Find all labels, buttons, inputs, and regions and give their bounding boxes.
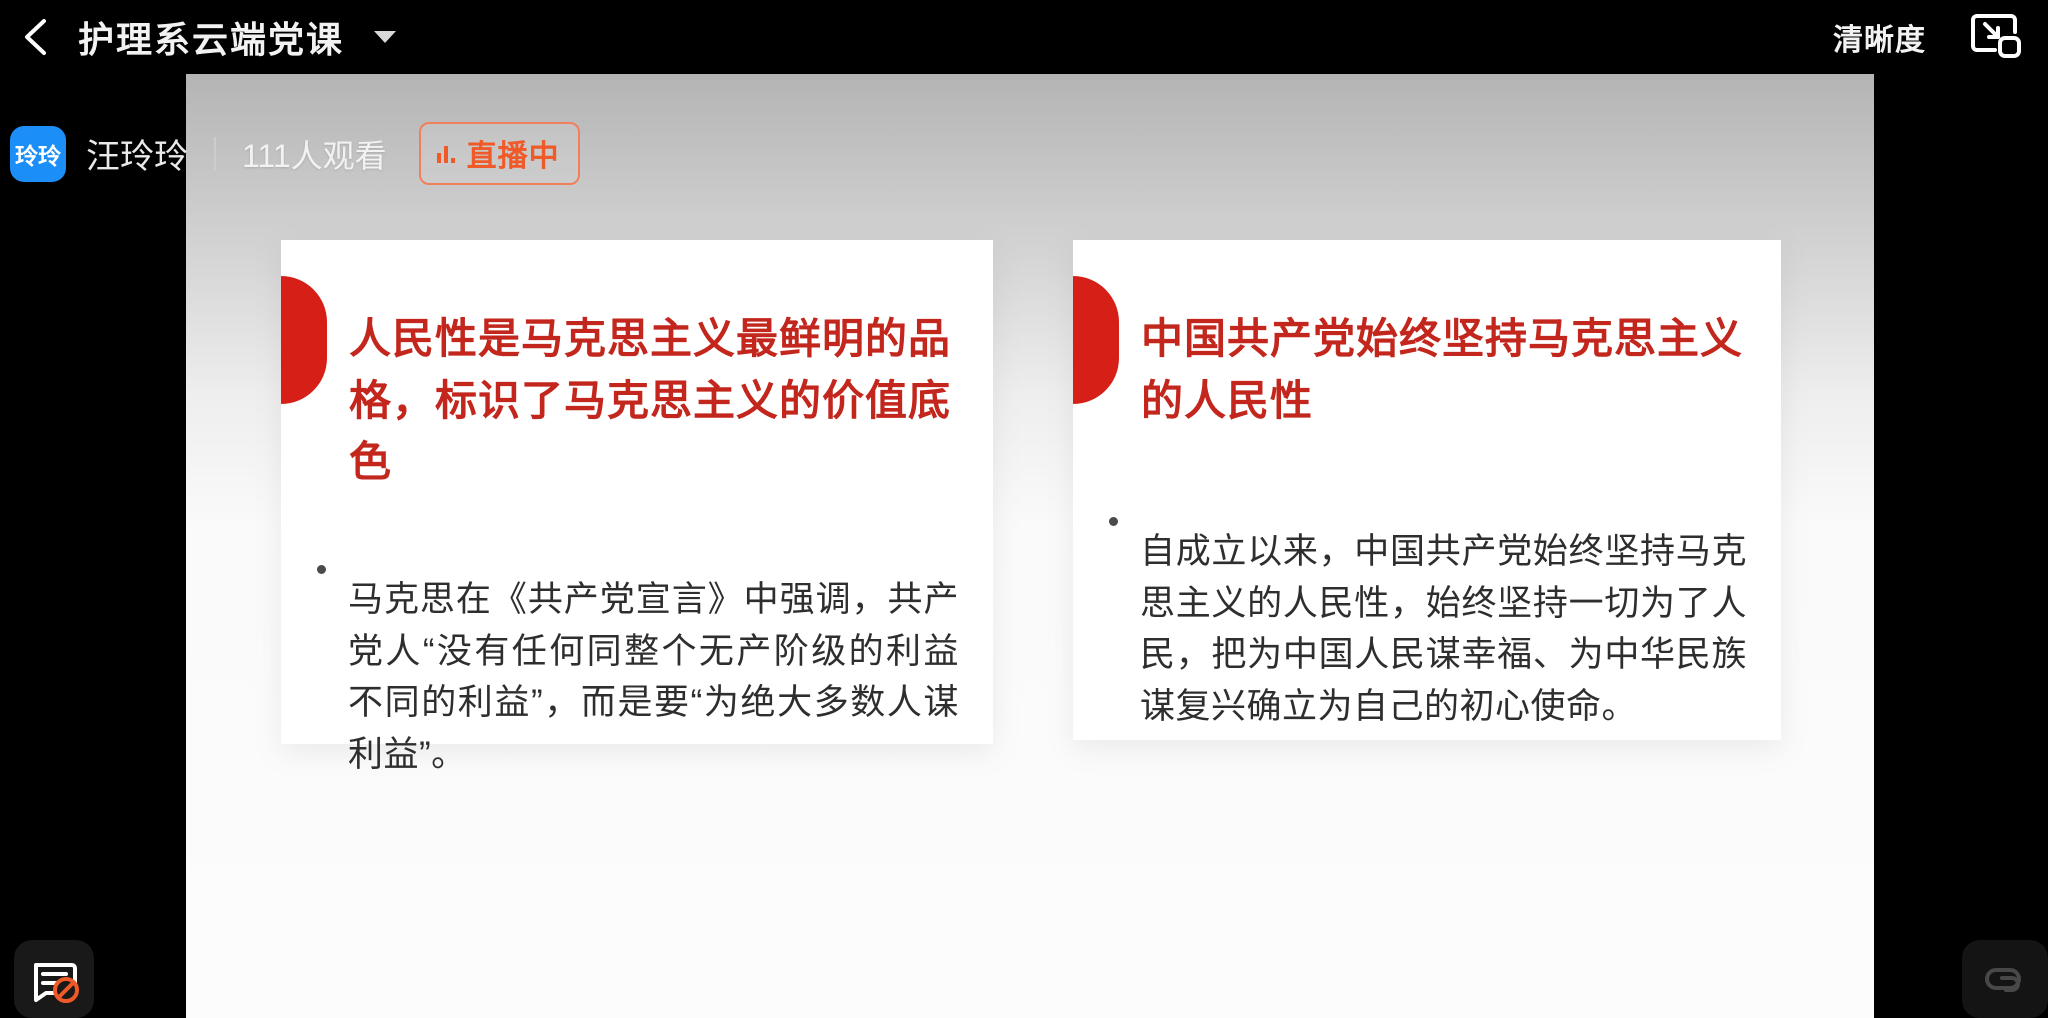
bullet-dot-icon <box>1109 517 1118 526</box>
picture-in-picture-button[interactable] <box>1966 7 2026 67</box>
top-bar-actions: 清晰度 <box>1833 7 2048 67</box>
bullet-dot-icon <box>317 565 326 574</box>
live-info-bar: 玲玲 汪玲玲 111人观看 直播中 <box>10 122 580 185</box>
card-left-bullet-text: 马克思在《共产党宣言》中强调，共产党人“没有任何同整个无产阶级的利益不同的利益”… <box>348 574 959 780</box>
viewer-count: 111人观看 <box>242 131 387 177</box>
video-area[interactable]: 人民性是马克思主义最鲜明的品格，标识了马克思主义的价值底色 马克思在《共产党宣言… <box>186 74 1874 1018</box>
card-right-header: 中国共产党始终坚持马克思主义的人民性 <box>1073 240 1781 431</box>
page-title: 护理系云端党课 <box>78 11 344 63</box>
signal-bars-icon <box>437 143 455 163</box>
card-left-title: 人民性是马克思主义最鲜明的品格，标识了马克思主义的价值底色 <box>281 268 993 493</box>
card-right-title: 中国共产党始终坚持马克思主义的人民性 <box>1073 268 1781 431</box>
card-right-bullet: 自成立以来，中国共产党始终坚持马克思主义的人民性，始终坚持一切为了人民，把为中国… <box>1073 431 1781 767</box>
slide-card-right: 中国共产党始终坚持马克思主义的人民性 自成立以来，中国共产党始终坚持马克思主义的… <box>1073 240 1781 740</box>
back-button[interactable] <box>6 0 68 74</box>
player-stage: 人民性是马克思主义最鲜明的品格，标识了马克思主义的价值底色 马克思在《共产党宣言… <box>0 0 2048 1018</box>
chevron-down-icon[interactable] <box>374 31 396 43</box>
picture-in-picture-icon <box>1968 11 2024 63</box>
status-badge[interactable]: 直播中 <box>419 122 580 185</box>
presentation-slide: 人民性是马克思主义最鲜明的品格，标识了马克思主义的价值底色 马克思在《共产党宣言… <box>186 74 1874 1018</box>
slide-card-left: 人民性是马克思主义最鲜明的品格，标识了马克思主义的价值底色 马克思在《共产党宣言… <box>281 240 993 744</box>
card-right-bullet-text: 自成立以来，中国共产党始终坚持马克思主义的人民性，始终坚持一切为了人民，把为中国… <box>1140 526 1747 732</box>
host-name: 汪玲玲 <box>86 129 188 178</box>
link-icon <box>1980 954 2030 1004</box>
danmaku-toggle-button[interactable] <box>14 940 94 1018</box>
live-badge-label: 直播中 <box>467 131 560 175</box>
card-left-header: 人民性是马克思主义最鲜明的品格，标识了马克思主义的价值底色 <box>281 240 993 493</box>
chevron-left-icon <box>20 15 54 59</box>
quality-button[interactable]: 清晰度 <box>1833 15 1926 59</box>
avatar[interactable]: 玲玲 <box>10 126 66 182</box>
card-left-bullet: 马克思在《共产党宣言》中强调，共产党人“没有任何同整个无产阶级的利益不同的利益”… <box>281 493 993 815</box>
divider <box>214 137 216 171</box>
top-bar: 护理系云端党课 清晰度 <box>0 0 2048 74</box>
danmaku-off-icon <box>28 953 80 1005</box>
corner-action-button[interactable] <box>1962 940 2048 1018</box>
